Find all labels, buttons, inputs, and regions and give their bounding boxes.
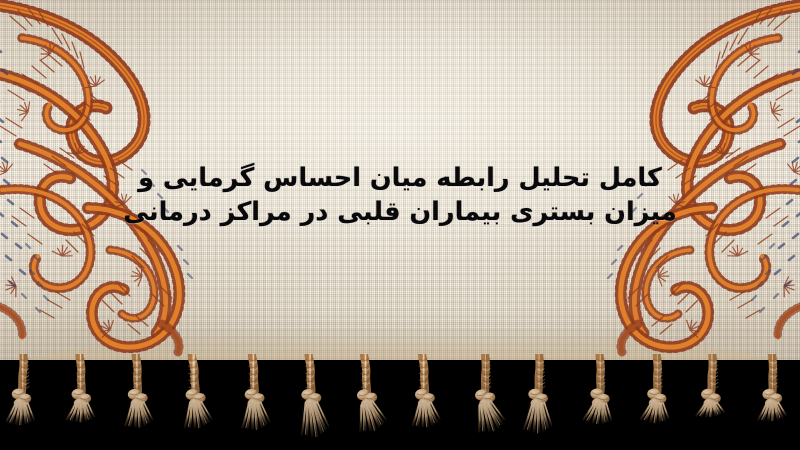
tassel: [748, 354, 794, 450]
tassel: [634, 354, 680, 450]
tassel: [177, 354, 223, 450]
tassel: [6, 354, 52, 450]
knotted-tassel-fringe: [0, 360, 800, 450]
tassel: [120, 354, 166, 450]
tassel-row: [0, 354, 800, 450]
tassel: [291, 354, 337, 450]
tassel: [406, 354, 452, 450]
tassel: [520, 354, 566, 450]
tassel: [234, 354, 280, 450]
tassel: [691, 354, 737, 450]
tassel: [577, 354, 623, 450]
cloth-shading-overlay: [0, 0, 800, 378]
tassel: [63, 354, 109, 450]
linen-weave-texture-fine: [0, 0, 800, 378]
tassel: [463, 354, 509, 450]
textile-background: [0, 0, 800, 378]
tassel: [348, 354, 394, 450]
linen-weave-texture-coarse: [0, 0, 800, 378]
title-slide: کامل تحلیل رابطه میان احساس گرمایی و میز…: [0, 0, 800, 450]
